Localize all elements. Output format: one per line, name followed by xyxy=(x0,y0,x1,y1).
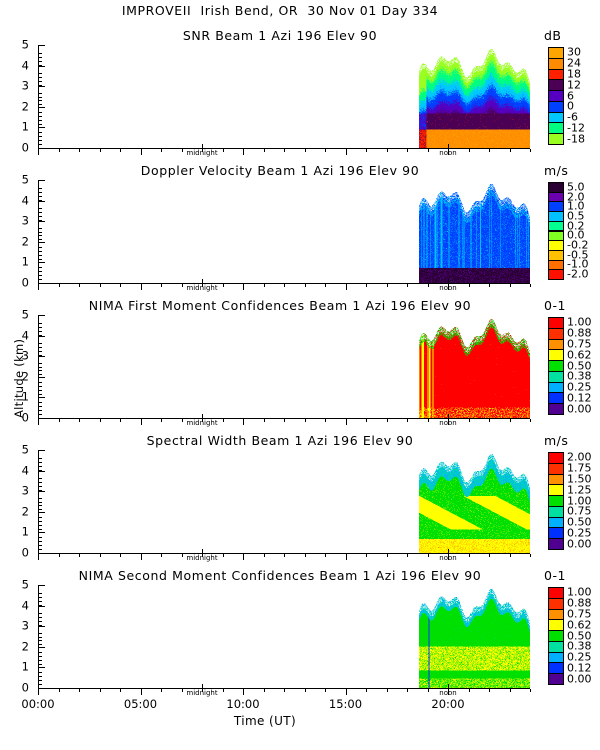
daymark-midnight: midnight xyxy=(186,554,217,562)
panel-snr: SNR Beam 1 Azi 196 Elev 90dB012345midnig… xyxy=(0,28,600,162)
x-tick-major xyxy=(243,554,244,560)
y-tick-minor xyxy=(38,279,42,280)
y-tick-major xyxy=(38,262,45,263)
y-tick-minor xyxy=(38,335,42,336)
daymark-tick xyxy=(202,684,203,689)
x-tick-minor xyxy=(223,419,224,422)
colorbar-spectral-width: 2.001.751.501.251.000.750.500.250.00 xyxy=(548,452,564,549)
y-tick-minor xyxy=(38,505,42,506)
panel-unit-nima-first-moment-confidences: 0-1 xyxy=(544,298,566,313)
y-tick-label: 2 xyxy=(0,506,29,518)
colorbar-swatch xyxy=(548,538,564,550)
x-tick-minor xyxy=(120,419,121,422)
y-tick-minor xyxy=(38,228,42,229)
x-tick-minor xyxy=(366,419,367,422)
y-tick-minor xyxy=(38,93,42,94)
y-tick-minor xyxy=(38,549,42,550)
daymark-noon: noon xyxy=(439,689,456,697)
y-tick-minor xyxy=(38,660,42,661)
y-tick-major xyxy=(38,606,45,607)
y-tick-minor xyxy=(38,363,42,364)
y-tick-minor xyxy=(38,140,42,141)
y-tick-minor xyxy=(38,617,42,618)
x-tick-minor xyxy=(100,419,101,422)
x-tick-minor xyxy=(530,554,531,557)
x-tick-major xyxy=(38,149,39,155)
x-tick-minor xyxy=(407,284,408,287)
x-tick-major xyxy=(38,284,39,290)
panel-unit-snr: dB xyxy=(544,28,562,43)
y-tick-minor xyxy=(38,45,42,46)
y-tick-minor xyxy=(38,77,42,78)
x-tick-minor xyxy=(489,689,490,692)
y-tick-minor xyxy=(38,640,42,641)
y-tick-minor xyxy=(38,652,42,653)
y-tick-minor xyxy=(38,545,42,546)
panel-unit-doppler-velocity: m/s xyxy=(544,163,568,178)
x-tick-minor xyxy=(510,284,511,287)
y-tick-major xyxy=(38,418,45,419)
x-tick-major xyxy=(346,689,347,695)
x-tick-minor xyxy=(59,419,60,422)
x-tick-major xyxy=(346,284,347,290)
x-axis-title: Time (UT) xyxy=(0,714,530,728)
y-tick-major xyxy=(38,336,45,337)
x-tick-minor xyxy=(387,419,388,422)
panel-unit-nima-second-moment-confidences: 0-1 xyxy=(544,568,566,583)
colorbar-tick-label: -18 xyxy=(567,133,585,144)
y-tick-major xyxy=(38,221,45,222)
colorbar-swatch xyxy=(548,269,564,280)
x-tick-minor xyxy=(428,554,429,557)
panel-title-spectral-width: Spectral Width Beam 1 Azi 196 Elev 90 xyxy=(0,433,560,448)
daymark-tick xyxy=(448,144,449,149)
y-tick-minor xyxy=(38,466,42,467)
y-tick-minor xyxy=(38,73,42,74)
y-tick-minor xyxy=(38,597,42,598)
x-tick-minor xyxy=(387,284,388,287)
y-tick-minor xyxy=(38,637,42,638)
x-tick-minor xyxy=(120,554,121,557)
daymark-noon: noon xyxy=(439,284,456,292)
y-tick-major xyxy=(38,553,45,554)
y-tick-label: 5 xyxy=(0,579,29,591)
y-tick-major xyxy=(38,647,45,648)
data-field-spectral-width xyxy=(419,450,530,553)
x-tick-minor xyxy=(305,419,306,422)
y-tick-label: 0 xyxy=(0,277,29,289)
panel-nima-second-moment-confidences: NIMA Second Moment Confidences Beam 1 Az… xyxy=(0,568,600,702)
y-tick-minor xyxy=(38,490,42,491)
y-tick-major xyxy=(38,127,45,128)
daymark-midnight: midnight xyxy=(186,689,217,697)
y-tick-minor xyxy=(38,239,42,240)
data-field-nima-second-moment-confidences xyxy=(419,585,530,688)
y-tick-minor xyxy=(38,462,42,463)
x-tick-minor xyxy=(161,149,162,152)
panel-title-nima-second-moment-confidences: NIMA Second Moment Confidences Beam 1 Az… xyxy=(0,568,560,583)
x-tick-minor xyxy=(182,689,183,692)
colorbar-tick-label: -2.0 xyxy=(567,269,588,280)
daymark-midnight: midnight xyxy=(186,149,217,157)
y-tick-label: 5 xyxy=(0,39,29,51)
y-tick-minor xyxy=(38,601,42,602)
x-tick-major xyxy=(38,689,39,695)
y-tick-minor xyxy=(38,65,42,66)
y-tick-minor xyxy=(38,315,42,316)
x-tick-major xyxy=(243,149,244,155)
y-tick-minor xyxy=(38,486,42,487)
y-tick-minor xyxy=(38,220,42,221)
x-tick-label: 15:00 xyxy=(329,697,362,711)
daymark-midnight: midnight xyxy=(186,284,217,292)
y-tick-minor xyxy=(38,386,42,387)
x-tick-minor xyxy=(223,689,224,692)
y-tick-minor xyxy=(38,136,42,137)
x-tick-major xyxy=(346,149,347,155)
x-tick-minor xyxy=(366,689,367,692)
y-tick-minor xyxy=(38,605,42,606)
y-tick-minor xyxy=(38,351,42,352)
colorbar-swatch xyxy=(548,133,564,145)
y-tick-major xyxy=(38,471,45,472)
y-tick-minor xyxy=(38,180,42,181)
y-tick-major xyxy=(38,491,45,492)
y-tick-minor xyxy=(38,116,42,117)
daymark-tick xyxy=(448,549,449,554)
y-tick-label: 1 xyxy=(0,661,29,673)
x-tick-minor xyxy=(223,284,224,287)
y-tick-minor xyxy=(38,323,42,324)
x-tick-minor xyxy=(325,419,326,422)
y-tick-minor xyxy=(38,216,42,217)
daymark-noon: noon xyxy=(439,149,456,157)
panel-unit-spectral-width: m/s xyxy=(544,433,568,448)
x-tick-minor xyxy=(428,419,429,422)
x-tick-minor xyxy=(59,689,60,692)
y-tick-major xyxy=(38,356,45,357)
y-tick-minor xyxy=(38,450,42,451)
y-tick-minor xyxy=(38,593,42,594)
y-tick-minor xyxy=(38,57,42,58)
x-tick-major xyxy=(141,554,142,560)
y-tick-label: 4 xyxy=(0,60,29,72)
y-tick-label: 4 xyxy=(0,465,29,477)
x-tick-label: 20:00 xyxy=(431,697,464,711)
x-tick-minor xyxy=(510,554,511,557)
y-tick-label: 3 xyxy=(0,620,29,632)
y-tick-minor xyxy=(38,120,42,121)
y-tick-minor xyxy=(38,104,42,105)
x-tick-minor xyxy=(489,554,490,557)
panel-title-doppler-velocity: Doppler Velocity Beam 1 Azi 196 Elev 90 xyxy=(0,163,560,178)
y-tick-minor xyxy=(38,188,42,189)
x-tick-minor xyxy=(510,419,511,422)
x-tick-minor xyxy=(161,284,162,287)
x-tick-minor xyxy=(305,284,306,287)
colorbar-tick-label: 0.00 xyxy=(567,538,592,549)
y-tick-label: 0 xyxy=(0,682,29,694)
x-tick-minor xyxy=(161,419,162,422)
y-tick-minor xyxy=(38,613,42,614)
y-tick-major xyxy=(38,201,45,202)
plot-area-nima-second-moment-confidences xyxy=(38,585,530,688)
x-tick-minor xyxy=(182,419,183,422)
y-tick-minor xyxy=(38,81,42,82)
figure-title: IMPROVEII Irish Bend, OR 30 Nov 01 Day 3… xyxy=(0,3,560,18)
y-tick-minor xyxy=(38,529,42,530)
y-tick-minor xyxy=(38,672,42,673)
x-tick-minor xyxy=(120,284,121,287)
y-tick-major xyxy=(38,242,45,243)
y-tick-minor xyxy=(38,255,42,256)
colorbar-doppler-velocity: 5.02.01.00.50.20.0-0.2-0.5-1.0-2.0 xyxy=(548,182,564,279)
daymark-tick xyxy=(448,684,449,689)
y-tick-minor xyxy=(38,676,42,677)
y-tick-label: 4 xyxy=(0,195,29,207)
y-tick-minor xyxy=(38,235,42,236)
daymark-midnight: midnight xyxy=(186,419,217,427)
y-tick-minor xyxy=(38,232,42,233)
y-tick-minor xyxy=(38,61,42,62)
colorbar-snr: 3024181260-6-12-18 xyxy=(548,47,564,144)
y-tick-minor xyxy=(38,414,42,415)
y-tick-major xyxy=(38,86,45,87)
x-tick-minor xyxy=(284,554,285,557)
x-tick-minor xyxy=(510,689,511,692)
x-tick-minor xyxy=(489,419,490,422)
x-tick-minor xyxy=(325,554,326,557)
y-tick-minor xyxy=(38,537,42,538)
y-tick-minor xyxy=(38,585,42,586)
y-tick-minor xyxy=(38,251,42,252)
x-tick-minor xyxy=(469,149,470,152)
x-tick-minor xyxy=(428,149,429,152)
x-tick-label: 00:00 xyxy=(21,697,54,711)
y-tick-minor xyxy=(38,525,42,526)
y-tick-minor xyxy=(38,247,42,248)
y-tick-minor xyxy=(38,374,42,375)
y-tick-major xyxy=(38,667,45,668)
x-tick-minor xyxy=(223,554,224,557)
x-tick-minor xyxy=(182,284,183,287)
y-tick-minor xyxy=(38,208,42,209)
y-tick-minor xyxy=(38,644,42,645)
x-tick-minor xyxy=(284,689,285,692)
x-tick-minor xyxy=(469,284,470,287)
daymark-tick xyxy=(202,549,203,554)
x-tick-minor xyxy=(407,149,408,152)
x-tick-minor xyxy=(264,284,265,287)
x-tick-minor xyxy=(387,689,388,692)
x-tick-minor xyxy=(510,149,511,152)
panel-title-snr: SNR Beam 1 Azi 196 Elev 90 xyxy=(0,28,560,43)
x-tick-minor xyxy=(79,149,80,152)
y-tick-minor xyxy=(38,478,42,479)
x-tick-minor xyxy=(530,419,531,422)
x-tick-minor xyxy=(305,149,306,152)
y-tick-minor xyxy=(38,275,42,276)
x-tick-minor xyxy=(264,554,265,557)
y-tick-minor xyxy=(38,200,42,201)
y-tick-minor xyxy=(38,327,42,328)
y-tick-major xyxy=(38,148,45,149)
x-tick-minor xyxy=(100,554,101,557)
x-tick-minor xyxy=(366,284,367,287)
panel-doppler-velocity: Doppler Velocity Beam 1 Azi 196 Elev 90m… xyxy=(0,163,600,297)
x-tick-minor xyxy=(59,149,60,152)
y-tick-label: 5 xyxy=(0,309,29,321)
y-tick-minor xyxy=(38,458,42,459)
y-tick-label: 2 xyxy=(0,101,29,113)
y-tick-minor xyxy=(38,680,42,681)
daymark-tick xyxy=(202,144,203,149)
y-tick-label: 1 xyxy=(0,256,29,268)
x-tick-minor xyxy=(469,419,470,422)
plot-area-snr xyxy=(38,45,530,148)
y-tick-label: 5 xyxy=(0,444,29,456)
x-tick-minor xyxy=(59,284,60,287)
y-axis-title: Altitude (km) xyxy=(12,339,26,418)
daymark-noon: noon xyxy=(439,554,456,562)
colorbar-tick-label: 0.00 xyxy=(567,673,592,684)
y-tick-label: 3 xyxy=(0,485,29,497)
y-tick-minor xyxy=(38,331,42,332)
y-tick-label: 5 xyxy=(0,174,29,186)
data-field-nima-first-moment-confidences xyxy=(419,315,530,418)
x-tick-minor xyxy=(407,554,408,557)
y-tick-minor xyxy=(38,390,42,391)
x-tick-major xyxy=(38,419,39,425)
plot-area-spectral-width xyxy=(38,450,530,553)
x-tick-minor xyxy=(305,689,306,692)
colorbar-swatch xyxy=(548,403,564,415)
x-tick-major xyxy=(346,554,347,560)
panel-nima-first-moment-confidences: NIMA First Moment Confidences Beam 1 Azi… xyxy=(0,298,600,432)
x-tick-minor xyxy=(100,689,101,692)
y-tick-minor xyxy=(38,402,42,403)
y-tick-minor xyxy=(38,132,42,133)
x-tick-minor xyxy=(530,284,531,287)
y-tick-minor xyxy=(38,664,42,665)
x-tick-minor xyxy=(161,689,162,692)
y-tick-minor xyxy=(38,684,42,685)
y-tick-minor xyxy=(38,498,42,499)
y-tick-minor xyxy=(38,124,42,125)
x-tick-minor xyxy=(59,554,60,557)
data-field-snr xyxy=(419,45,530,148)
colorbar-swatch xyxy=(548,673,564,685)
y-tick-minor xyxy=(38,196,42,197)
y-tick-label: 1 xyxy=(0,121,29,133)
y-tick-minor xyxy=(38,212,42,213)
x-tick-minor xyxy=(284,149,285,152)
y-tick-minor xyxy=(38,470,42,471)
x-tick-minor xyxy=(325,689,326,692)
y-tick-label: 4 xyxy=(0,600,29,612)
y-tick-major xyxy=(38,397,45,398)
x-tick-minor xyxy=(387,554,388,557)
x-tick-minor xyxy=(120,689,121,692)
x-tick-minor xyxy=(325,284,326,287)
y-tick-minor xyxy=(38,100,42,101)
y-tick-label: 3 xyxy=(0,215,29,227)
y-tick-label: 3 xyxy=(0,80,29,92)
y-tick-minor xyxy=(38,267,42,268)
x-tick-minor xyxy=(489,284,490,287)
radar-timeheight-figure: IMPROVEII Irish Bend, OR 30 Nov 01 Day 3… xyxy=(0,0,600,750)
y-tick-minor xyxy=(38,112,42,113)
y-tick-minor xyxy=(38,259,42,260)
y-tick-minor xyxy=(38,410,42,411)
y-tick-major xyxy=(38,107,45,108)
x-tick-minor xyxy=(407,419,408,422)
y-tick-major xyxy=(38,532,45,533)
x-tick-minor xyxy=(79,284,80,287)
x-tick-major xyxy=(243,689,244,695)
x-tick-minor xyxy=(120,149,121,152)
y-tick-minor xyxy=(38,53,42,54)
x-tick-minor xyxy=(366,149,367,152)
y-tick-minor xyxy=(38,394,42,395)
y-tick-minor xyxy=(38,370,42,371)
x-tick-major xyxy=(243,419,244,425)
panel-title-nima-first-moment-confidences: NIMA First Moment Confidences Beam 1 Azi… xyxy=(0,298,560,313)
y-tick-minor xyxy=(38,192,42,193)
y-tick-minor xyxy=(38,382,42,383)
daymark-tick xyxy=(448,414,449,419)
plot-area-doppler-velocity xyxy=(38,180,530,283)
y-tick-major xyxy=(38,688,45,689)
y-tick-label: 2 xyxy=(0,236,29,248)
y-tick-minor xyxy=(38,144,42,145)
x-tick-minor xyxy=(79,419,80,422)
x-tick-minor xyxy=(161,554,162,557)
colorbar-nima-second-moment-confidences: 1.000.880.750.620.500.380.250.120.00 xyxy=(548,587,564,684)
x-tick-minor xyxy=(469,554,470,557)
x-tick-minor xyxy=(100,284,101,287)
daymark-noon: noon xyxy=(439,419,456,427)
y-tick-major xyxy=(38,283,45,284)
y-tick-major xyxy=(38,512,45,513)
y-tick-minor xyxy=(38,343,42,344)
x-tick-minor xyxy=(264,689,265,692)
y-tick-minor xyxy=(38,355,42,356)
y-tick-minor xyxy=(38,521,42,522)
x-tick-minor xyxy=(79,689,80,692)
y-tick-minor xyxy=(38,656,42,657)
plot-area-nima-first-moment-confidences xyxy=(38,315,530,418)
daymark-tick xyxy=(448,279,449,284)
x-tick-minor xyxy=(264,419,265,422)
x-tick-minor xyxy=(387,149,388,152)
data-field-doppler-velocity xyxy=(419,180,530,283)
y-tick-label: 1 xyxy=(0,526,29,538)
y-tick-minor xyxy=(38,502,42,503)
y-tick-minor xyxy=(38,271,42,272)
x-tick-minor xyxy=(182,554,183,557)
panel-spectral-width: Spectral Width Beam 1 Azi 196 Elev 90m/s… xyxy=(0,433,600,567)
y-tick-minor xyxy=(38,367,42,368)
y-tick-minor xyxy=(38,633,42,634)
x-tick-minor xyxy=(530,149,531,152)
daymark-tick xyxy=(202,414,203,419)
x-tick-major xyxy=(141,419,142,425)
x-tick-major xyxy=(141,149,142,155)
x-tick-minor xyxy=(223,149,224,152)
y-tick-minor xyxy=(38,406,42,407)
y-tick-minor xyxy=(38,625,42,626)
